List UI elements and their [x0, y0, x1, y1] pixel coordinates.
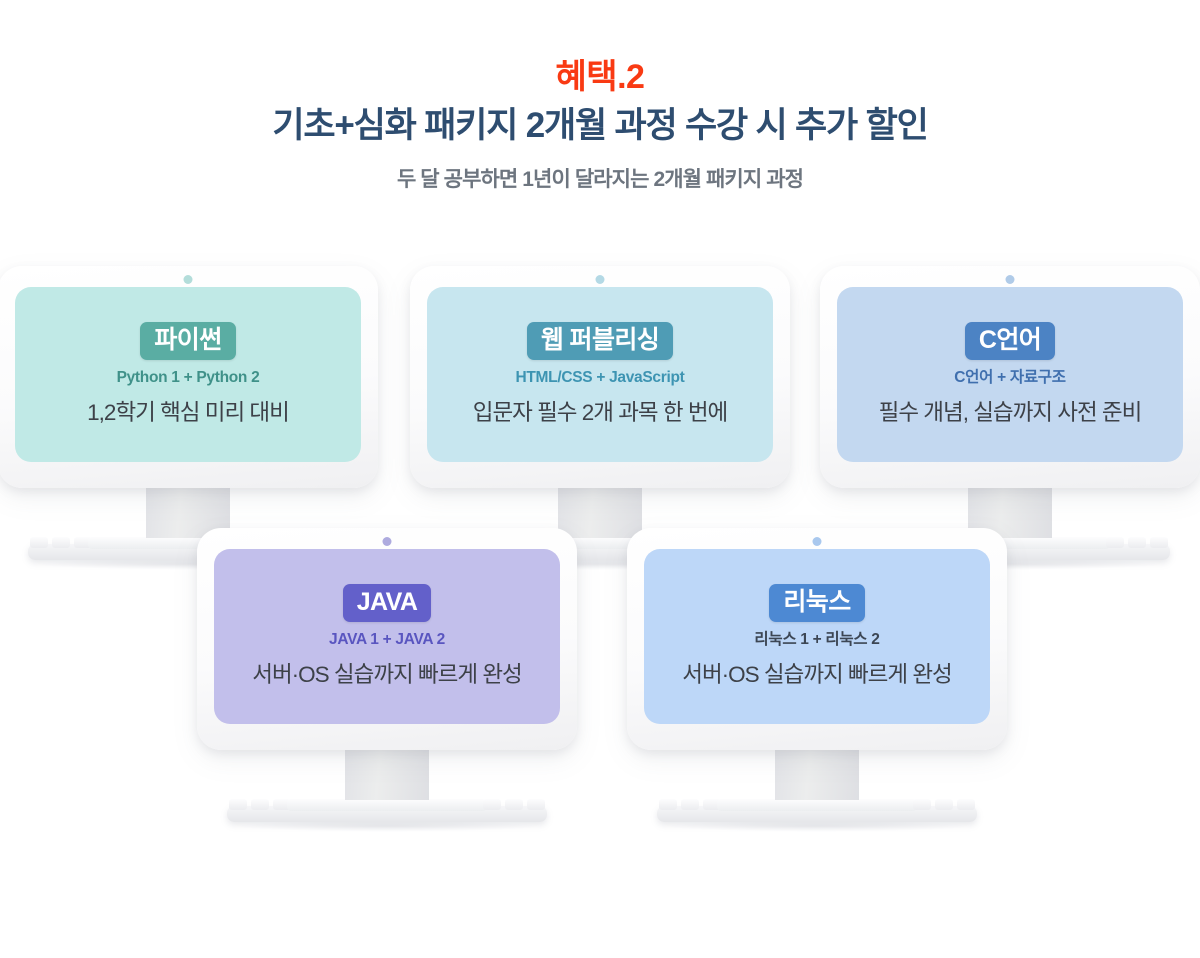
webcam-icon: [596, 275, 605, 284]
keyboard-key: [1128, 537, 1146, 548]
monitor-bezel: 파이썬 Python 1 + Python 2 1,2학기 핵심 미리 대비: [0, 266, 378, 488]
keyboard-key: [935, 799, 953, 810]
keyboard-key: [505, 799, 523, 810]
keyboard-key: [251, 799, 269, 810]
promo-page: 혜택.2 기초+심화 패키지 2개월 과정 수강 시 추가 할인 두 달 공부하…: [0, 0, 1200, 958]
monitor-bezel: 리눅스 리눅스 1 + 리눅스 2 서버·OS 실습까지 빠르게 완성: [627, 528, 1007, 750]
course-card-linux[interactable]: 리눅스 리눅스 1 + 리눅스 2 서버·OS 실습까지 빠르게 완성: [627, 528, 1007, 750]
course-card-c-language[interactable]: C언어 C언어 + 자료구조 필수 개념, 실습까지 사전 준비: [820, 266, 1200, 488]
keyboard-key: [52, 537, 70, 548]
keyboard-key: [30, 537, 48, 548]
webcam-icon: [1006, 275, 1015, 284]
course-subtitle: JAVA 1 + JAVA 2: [329, 631, 445, 650]
keyboard-key: [483, 799, 501, 810]
course-card-python[interactable]: 파이썬 Python 1 + Python 2 1,2학기 핵심 미리 대비: [0, 266, 378, 488]
monitor-bezel: C언어 C언어 + 자료구조 필수 개념, 실습까지 사전 준비: [820, 266, 1200, 488]
course-subtitle: Python 1 + Python 2: [117, 369, 260, 388]
monitor-screen: 파이썬 Python 1 + Python 2 1,2학기 핵심 미리 대비: [15, 287, 361, 462]
monitor-screen: C언어 C언어 + 자료구조 필수 개념, 실습까지 사전 준비: [837, 287, 1183, 462]
course-subtitle: 리눅스 1 + 리눅스 2: [754, 631, 879, 650]
course-description: 필수 개념, 실습까지 사전 준비: [879, 399, 1142, 427]
course-card-java[interactable]: JAVA JAVA 1 + JAVA 2 서버·OS 실습까지 빠르게 완성: [197, 528, 577, 750]
keyboard-key: [659, 799, 677, 810]
keyboard-spacebar: [717, 799, 917, 811]
course-card-web-publishing[interactable]: 웹 퍼블리싱 HTML/CSS + JavaScript 입문자 필수 2개 과…: [410, 266, 790, 488]
course-badge: 파이썬: [140, 322, 235, 360]
course-description: 서버·OS 실습까지 빠르게 완성: [682, 661, 951, 689]
course-badge: 웹 퍼블리싱: [527, 322, 673, 360]
course-badge: JAVA: [343, 584, 432, 622]
monitor-screen: 웹 퍼블리싱 HTML/CSS + JavaScript 입문자 필수 2개 과…: [427, 287, 773, 462]
course-badge: 리눅스: [769, 584, 864, 622]
course-badge: C언어: [965, 322, 1055, 360]
course-description: 1,2학기 핵심 미리 대비: [87, 399, 289, 427]
webcam-icon: [184, 275, 193, 284]
course-description: 입문자 필수 2개 과목 한 번에: [473, 399, 727, 427]
keyboard-spacebar: [287, 799, 487, 811]
keyboard-key: [527, 799, 545, 810]
webcam-icon: [383, 537, 392, 546]
monitor-stand: [775, 750, 859, 800]
keyboard-key: [681, 799, 699, 810]
keyboard-key: [1150, 537, 1168, 548]
monitor-grid: 파이썬 Python 1 + Python 2 1,2학기 핵심 미리 대비: [0, 0, 1200, 958]
keyboard-key: [957, 799, 975, 810]
keyboard-key: [1106, 537, 1124, 548]
monitor-screen: 리눅스 리눅스 1 + 리눅스 2 서버·OS 실습까지 빠르게 완성: [644, 549, 990, 724]
monitor-screen: JAVA JAVA 1 + JAVA 2 서버·OS 실습까지 빠르게 완성: [214, 549, 560, 724]
webcam-icon: [813, 537, 822, 546]
keyboard-key: [913, 799, 931, 810]
monitor-bezel: 웹 퍼블리싱 HTML/CSS + JavaScript 입문자 필수 2개 과…: [410, 266, 790, 488]
course-description: 서버·OS 실습까지 빠르게 완성: [252, 661, 521, 689]
monitor-bezel: JAVA JAVA 1 + JAVA 2 서버·OS 실습까지 빠르게 완성: [197, 528, 577, 750]
monitor-stand: [345, 750, 429, 800]
course-subtitle: C언어 + 자료구조: [954, 369, 1065, 388]
keyboard-key: [229, 799, 247, 810]
course-subtitle: HTML/CSS + JavaScript: [516, 369, 685, 388]
